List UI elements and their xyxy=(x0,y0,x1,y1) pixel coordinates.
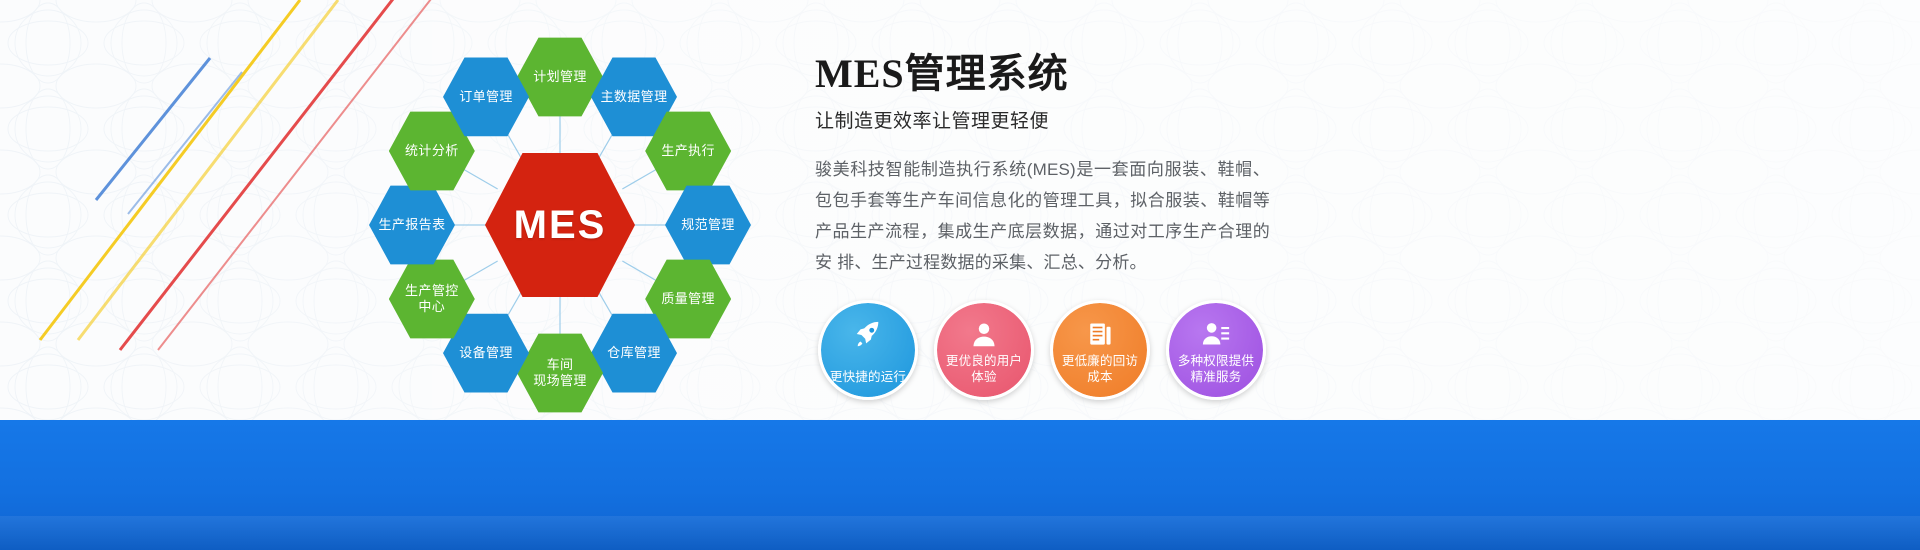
hex-node-label: 车间 现场管理 xyxy=(533,357,587,390)
hex-node-label: 生产管控 中心 xyxy=(405,283,459,316)
feature-badge-1[interactable]: 更快捷的运行 xyxy=(818,300,918,400)
document-icon xyxy=(1083,317,1117,351)
hex-node-label: 仓库管理 xyxy=(607,345,661,361)
feature-badge-4[interactable]: 多种权限提供 精准服务 xyxy=(1166,300,1266,400)
user-icon xyxy=(967,317,1001,351)
badge-label: 更低廉的回访 成本 xyxy=(1054,353,1146,386)
feature-badge-2[interactable]: 更优良的用户 体验 xyxy=(934,300,1034,400)
hex-node-label: 主数据管理 xyxy=(600,89,667,105)
page-title: MES管理系统 xyxy=(815,52,1285,96)
hex-node-label: 质量管理 xyxy=(661,291,715,307)
hex-node-label: 生产执行 xyxy=(661,143,715,159)
hex-node-label: 订单管理 xyxy=(459,89,513,105)
banner-text-block: MES管理系统 让制造更效率让管理更轻便 骏美科技智能制造执行系统(MES)是一… xyxy=(815,52,1285,279)
hex-node-label: 规范管理 xyxy=(681,217,735,233)
badge-label: 多种权限提供 精准服务 xyxy=(1170,353,1262,386)
feature-badge-list: 更快捷的运行更优良的用户 体验更低廉的回访 成本多种权限提供 精准服务 xyxy=(818,300,1266,400)
hex-node-label: 设备管理 xyxy=(459,345,513,361)
banner-stage: MES计划管理主数据管理生产执行规范管理质量管理仓库管理车间 现场管理设备管理生… xyxy=(0,0,1920,550)
feature-badge-3[interactable]: 更低廉的回访 成本 xyxy=(1050,300,1150,400)
bottom-blue-band xyxy=(0,420,1920,550)
mes-hexagon-diagram: MES计划管理主数据管理生产执行规范管理质量管理仓库管理车间 现场管理设备管理生… xyxy=(330,10,790,440)
rocket-icon xyxy=(851,317,885,351)
hex-node-label: 生产报告表 xyxy=(378,217,445,233)
badge-label: 更快捷的运行 xyxy=(822,369,914,385)
badge-label: 更优良的用户 体验 xyxy=(938,353,1030,386)
page-subtitle: 让制造更效率让管理更轻便 xyxy=(815,106,1285,133)
hex-node-label: 计划管理 xyxy=(533,69,587,85)
bottom-band-accent xyxy=(0,516,1920,550)
permissions-icon xyxy=(1199,317,1233,351)
description-paragraph: 骏美科技智能制造执行系统(MES)是一套面向服装、鞋帽、包包手套等生产车间信息化… xyxy=(815,155,1270,279)
hex-node-label: 统计分析 xyxy=(405,143,459,159)
